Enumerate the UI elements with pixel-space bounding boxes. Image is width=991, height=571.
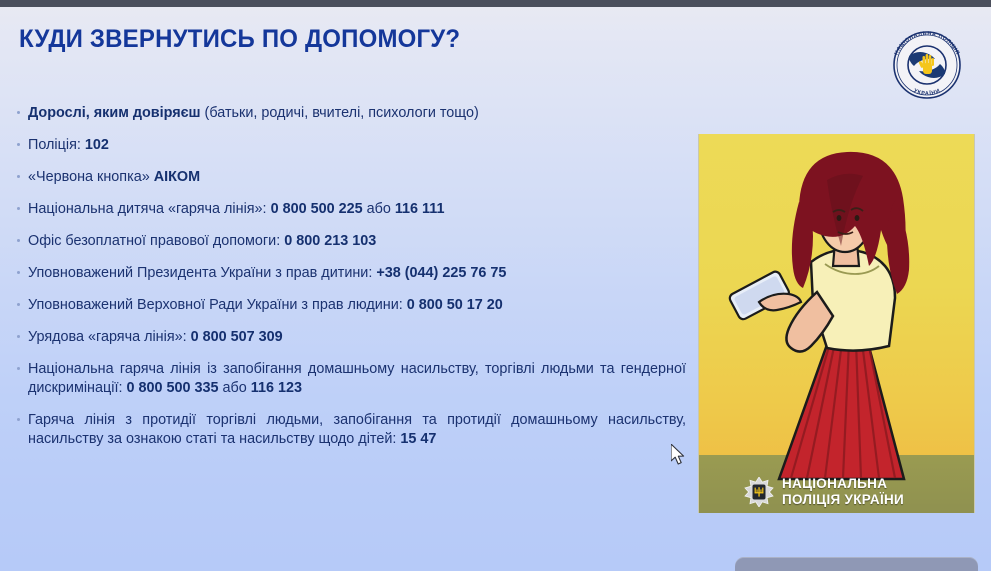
- eye-right: [855, 215, 860, 221]
- bullet-value: 0 800 50 17 20: [407, 297, 503, 313]
- police-star-badge-icon: [744, 477, 774, 507]
- list-item: Урядова «гаряча лінія»: 0 800 507 309: [14, 328, 686, 347]
- bullet-value: 15 47: [400, 431, 436, 447]
- list-item: Уповноважений Президента України з прав …: [14, 264, 686, 283]
- eye-left: [837, 215, 842, 221]
- police-wordmark-line1: НАЦІОНАЛЬНА: [782, 476, 904, 492]
- list-item: Дорослі, яким довіряєш (батьки, родичі, …: [14, 104, 686, 123]
- bullet-dot: [17, 271, 20, 274]
- bullet-value: 0 800 500 225: [271, 201, 363, 217]
- bullet-text: (батьки, родичі, вчителі, психологи тощо…: [201, 105, 479, 121]
- bullet-value-alt: 116 111: [395, 201, 445, 217]
- bullet-value: 0 800 507 309: [191, 329, 283, 345]
- bullet-value: 0 800 500 335: [126, 380, 218, 396]
- bullet-dot: [17, 111, 20, 114]
- bullet-text: Уповноважений Президента України з прав …: [28, 265, 376, 281]
- bullet-value-alt: 116 123: [251, 380, 302, 396]
- bullet-dot: [17, 175, 20, 178]
- girl-with-smartphone-illustration: НАЦІОНАЛЬНА ПОЛІЦІЯ УКРАЇНИ: [698, 134, 975, 513]
- list-item: Офіс безоплатної правової допомоги: 0 80…: [14, 232, 686, 251]
- list-item: Гаряча лінія з протидії торгівлі людьми,…: [14, 411, 686, 449]
- bullet-text: Офіс безоплатної правової допомоги:: [28, 233, 284, 249]
- police-wordmark-line2: ПОЛІЦІЯ УКРАЇНИ: [782, 492, 904, 508]
- bullet-text: Національна дитяча «гаряча лінія»:: [28, 201, 271, 217]
- list-item: «Червона кнопка» АІКОМ: [14, 168, 686, 187]
- bullet-value: +38 (044) 225 76 75: [376, 265, 506, 281]
- list-item: Поліція: 102: [14, 136, 686, 155]
- bullet-text: «Червона кнопка»: [28, 169, 154, 185]
- bullet-conjunction: або: [363, 201, 395, 217]
- bullet-dot: [17, 335, 20, 338]
- video-control-bar[interactable]: [735, 557, 978, 571]
- bullet-dot: [17, 303, 20, 306]
- bullet-dot: [17, 143, 20, 146]
- bullet-dot: [17, 207, 20, 210]
- bullet-text: Уповноважений Верховної Ради України з п…: [28, 297, 407, 313]
- bullet-lead: Дорослі, яким довіряєш: [28, 105, 201, 121]
- bullet-text: Гаряча лінія з протидії торгівлі людьми,…: [28, 412, 686, 447]
- help-contacts-list: Дорослі, яким довіряєш (батьки, родичі, …: [14, 104, 686, 462]
- bullet-text: Урядова «гаряча лінія»:: [28, 329, 191, 345]
- mouse-cursor: [671, 444, 687, 466]
- bullet-value: 102: [85, 137, 109, 153]
- police-wordmark-badge: НАЦІОНАЛЬНА ПОЛІЦІЯ УКРАЇНИ: [744, 476, 904, 507]
- bullet-value: 0 800 213 103: [284, 233, 376, 249]
- police-wordmark-text: НАЦІОНАЛЬНА ПОЛІЦІЯ УКРАЇНИ: [782, 476, 904, 507]
- bullet-dot: [17, 367, 20, 370]
- list-item: Національна гаряча лінія із запобігання …: [14, 360, 686, 398]
- emblem-icon: НАЦІОНАЛЬНА ПОЛІЦІЯ УКРАЇНИ: [885, 23, 969, 107]
- window-title-bar: [0, 0, 991, 7]
- list-item: Уповноважений Верховної Ради України з п…: [14, 296, 686, 315]
- illustration-artwork: [699, 134, 975, 513]
- page-title: КУДИ ЗВЕРНУТИСЬ ПО ДОПОМОГУ?: [19, 25, 460, 54]
- list-item: Національна дитяча «гаряча лінія»: 0 800…: [14, 200, 686, 219]
- bullet-dot: [17, 418, 20, 421]
- bullet-value: АІКОМ: [154, 169, 200, 185]
- national-police-emblem: НАЦІОНАЛЬНА ПОЛІЦІЯ УКРАЇНИ: [885, 23, 969, 107]
- bullet-dot: [17, 239, 20, 242]
- bullet-conjunction: або: [218, 380, 250, 396]
- bullet-text: Поліція:: [28, 137, 85, 153]
- presentation-slide: КУДИ ЗВЕРНУТИСЬ ПО ДОПОМОГУ?: [0, 0, 991, 571]
